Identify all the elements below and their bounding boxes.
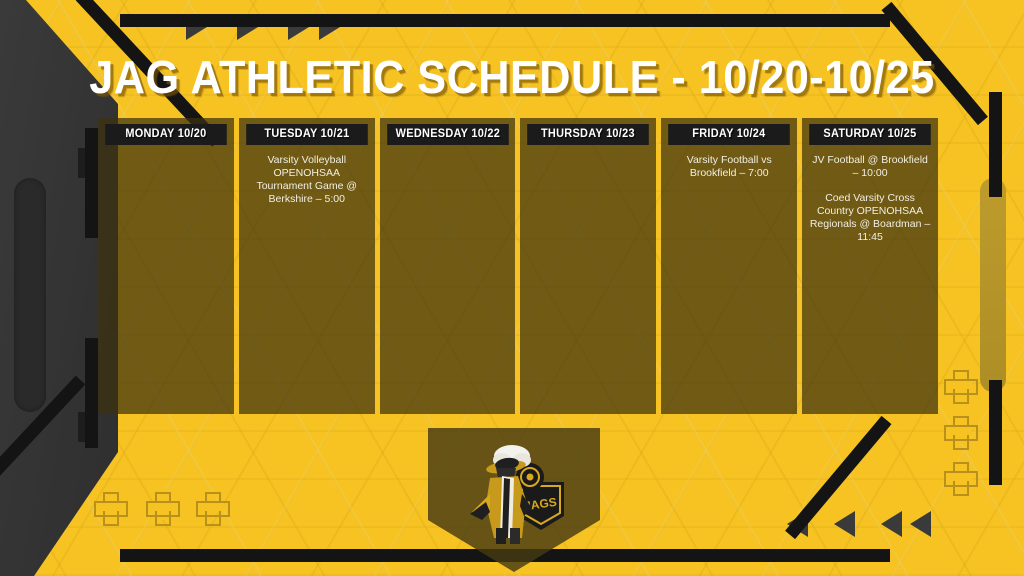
right-accent-pill	[980, 178, 1006, 392]
event-item: Varsity Volleyball OPENOHSAA Tournament …	[245, 154, 369, 206]
day-header: FRIDAY 10/24	[669, 124, 790, 145]
day-header: WEDNESDAY 10/22	[387, 124, 508, 145]
left-accent-pill	[14, 178, 46, 412]
schedule-grid: MONDAY 10/20 TUESDAY 10/21 Varsity Volle…	[98, 118, 938, 414]
mascot-logo-icon: JAGS	[460, 442, 568, 546]
day-column-tuesday: TUESDAY 10/21 Varsity Volleyball OPENOHS…	[239, 118, 375, 414]
day-events	[520, 145, 656, 154]
bracket-top-left-vertical	[85, 128, 98, 238]
plus-icon	[944, 370, 974, 400]
plus-icon	[944, 462, 974, 492]
plus-icon	[196, 492, 226, 522]
plus-icon	[146, 492, 176, 522]
event-item: Varsity Football vs Brookfield – 7:00	[667, 154, 791, 180]
left-tick-bottom	[78, 412, 85, 442]
bracket-top-horizontal	[120, 14, 890, 27]
event-item: Coed Varsity Cross Country OPENOHSAA Reg…	[808, 192, 932, 244]
day-column-saturday: SATURDAY 10/25 JV Football @ Brookfield …	[802, 118, 938, 414]
day-column-thursday: THURSDAY 10/23	[520, 118, 656, 414]
page-title: JAG ATHLETIC SCHEDULE - 10/20-10/25	[31, 50, 994, 104]
triangle-left-icon	[834, 511, 855, 537]
day-events	[98, 145, 234, 154]
day-header: SATURDAY 10/25	[809, 124, 930, 145]
day-column-friday: FRIDAY 10/24 Varsity Football vs Brookfi…	[661, 118, 797, 414]
day-column-wednesday: WEDNESDAY 10/22	[380, 118, 516, 414]
day-events	[380, 145, 516, 154]
day-header: TUESDAY 10/21	[246, 124, 367, 145]
day-header: MONDAY 10/20	[105, 124, 226, 145]
bracket-bottom-left-vertical	[85, 338, 98, 448]
triangle-left-icon	[910, 511, 931, 537]
event-item: JV Football @ Brookfield – 10:00	[808, 154, 932, 180]
day-column-monday: MONDAY 10/20	[98, 118, 234, 414]
day-events: Varsity Football vs Brookfield – 7:00	[661, 145, 797, 180]
bracket-top-right-vertical	[989, 92, 1002, 197]
left-tick-top	[78, 148, 85, 178]
triangle-left-icon	[881, 511, 902, 537]
plus-icon	[944, 416, 974, 446]
day-header: THURSDAY 10/23	[528, 124, 649, 145]
plus-icon	[94, 492, 124, 522]
day-events: Varsity Volleyball OPENOHSAA Tournament …	[239, 145, 375, 206]
bracket-bottom-right-vertical	[989, 380, 1002, 485]
day-events: JV Football @ Brookfield – 10:00 Coed Va…	[802, 145, 938, 244]
